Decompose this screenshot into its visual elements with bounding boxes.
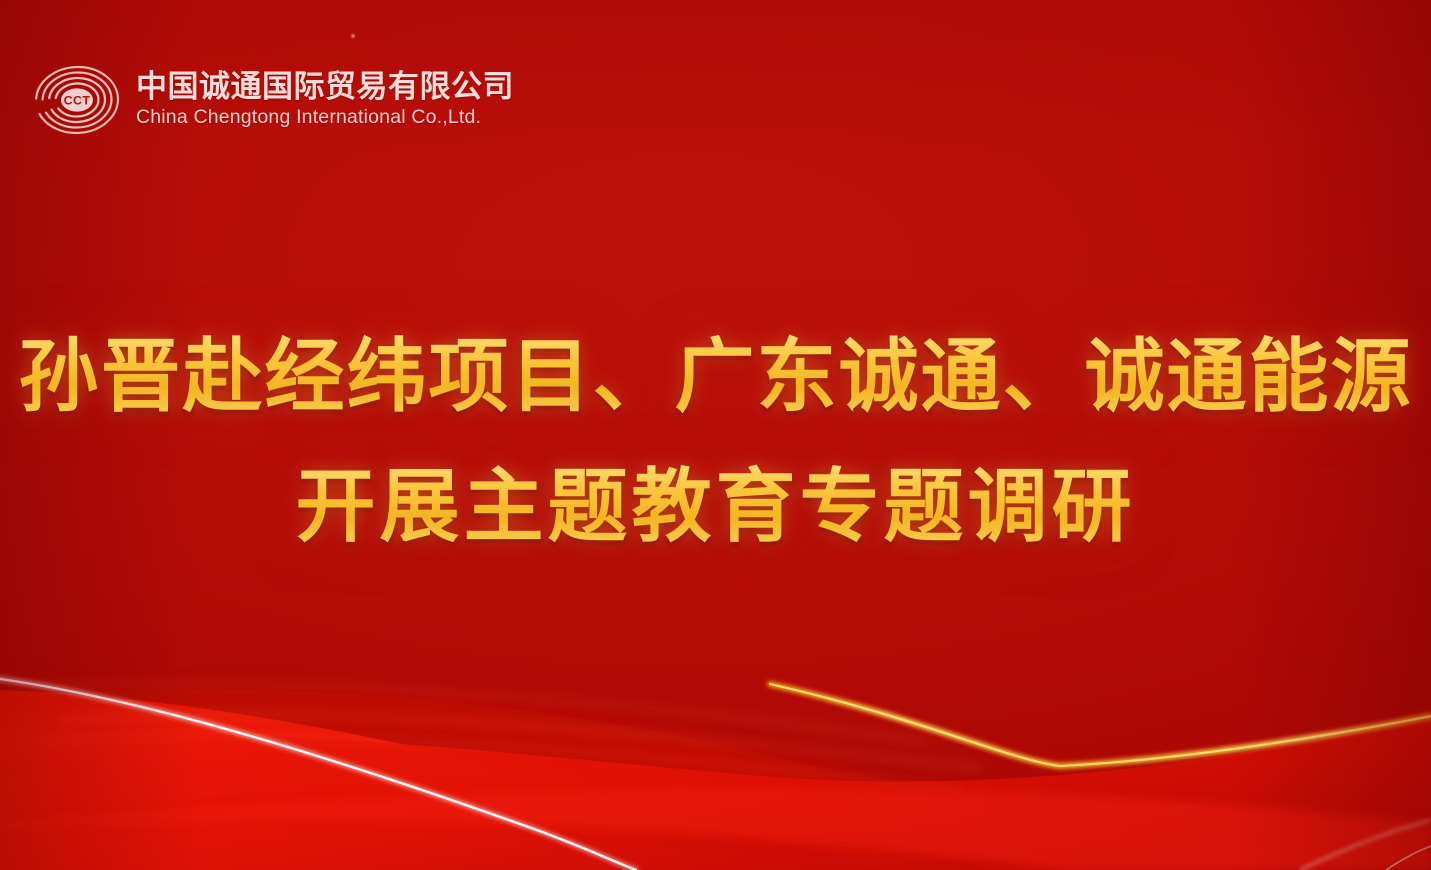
light-speck: [351, 34, 355, 38]
logo-monogram: CCT: [64, 94, 91, 108]
company-logo: CCT 中国诚通国际贸易有限公司 China Chengtong Interna…: [31, 57, 514, 143]
company-name-en: China Chengtong International Co.,Ltd.: [136, 107, 514, 127]
cct-concentric-ellipse-logo-icon: CCT: [31, 57, 123, 143]
company-name-cn: 中国诚通国际贸易有限公司: [136, 72, 514, 104]
title-slide: CCT 中国诚通国际贸易有限公司 China Chengtong Interna…: [0, 0, 1431, 870]
logo-wordmark: 中国诚通国际贸易有限公司 China Chengtong Internation…: [136, 72, 514, 127]
